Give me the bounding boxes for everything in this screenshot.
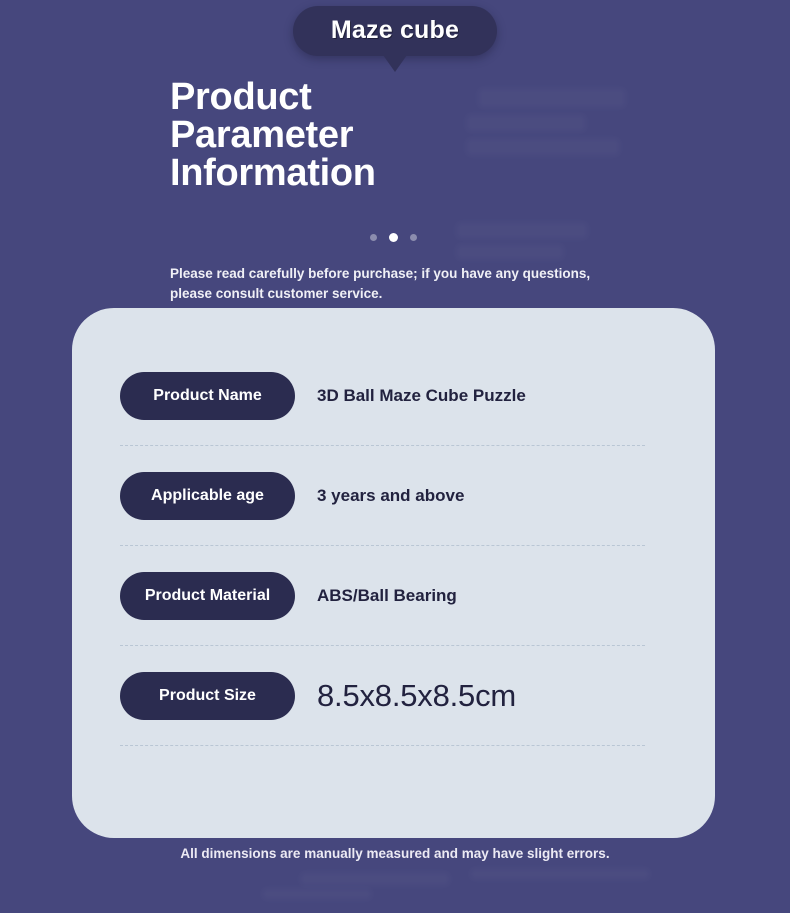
header: Product Parameter Information Please rea… (170, 78, 750, 303)
watermark-block (470, 868, 650, 880)
parameter-row: Product Name 3D Ball Maze Cube Puzzle (72, 360, 715, 460)
row-divider (120, 645, 645, 646)
badge-label: Maze cube (293, 6, 497, 56)
carousel-dots[interactable] (370, 234, 750, 242)
parameter-row: Product Material ABS/Ball Bearing (72, 560, 715, 660)
carousel-dot-1[interactable] (370, 234, 377, 241)
parameter-label-pill: Product Size (120, 672, 295, 720)
parameter-label-pill: Applicable age (120, 472, 295, 520)
badge-pointer-icon (383, 55, 407, 72)
watermark-block (300, 872, 450, 886)
watermark-block (262, 888, 372, 900)
parameter-row: Applicable age 3 years and above (72, 460, 715, 560)
page-title: Product Parameter Information (170, 78, 500, 192)
measurement-disclaimer: All dimensions are manually measured and… (0, 846, 790, 861)
carousel-dot-3[interactable] (410, 234, 417, 241)
row-divider (120, 445, 645, 446)
row-divider (120, 545, 645, 546)
maze-cube-badge: Maze cube (0, 6, 790, 72)
purchase-notice: Please read carefully before purchase; i… (170, 264, 620, 303)
product-parameter-card: Product Name 3D Ball Maze Cube Puzzle Ap… (72, 308, 715, 838)
parameter-label-pill: Product Name (120, 372, 295, 420)
parameter-value: ABS/Ball Bearing (317, 586, 457, 606)
parameter-row: Product Size 8.5x8.5x8.5cm (72, 660, 715, 760)
carousel-dot-2[interactable] (389, 233, 398, 242)
parameter-value: 3D Ball Maze Cube Puzzle (317, 386, 526, 406)
parameter-label-pill: Product Material (120, 572, 295, 620)
row-divider (120, 745, 645, 746)
parameter-value: 8.5x8.5x8.5cm (317, 678, 516, 714)
parameter-value: 3 years and above (317, 486, 464, 506)
